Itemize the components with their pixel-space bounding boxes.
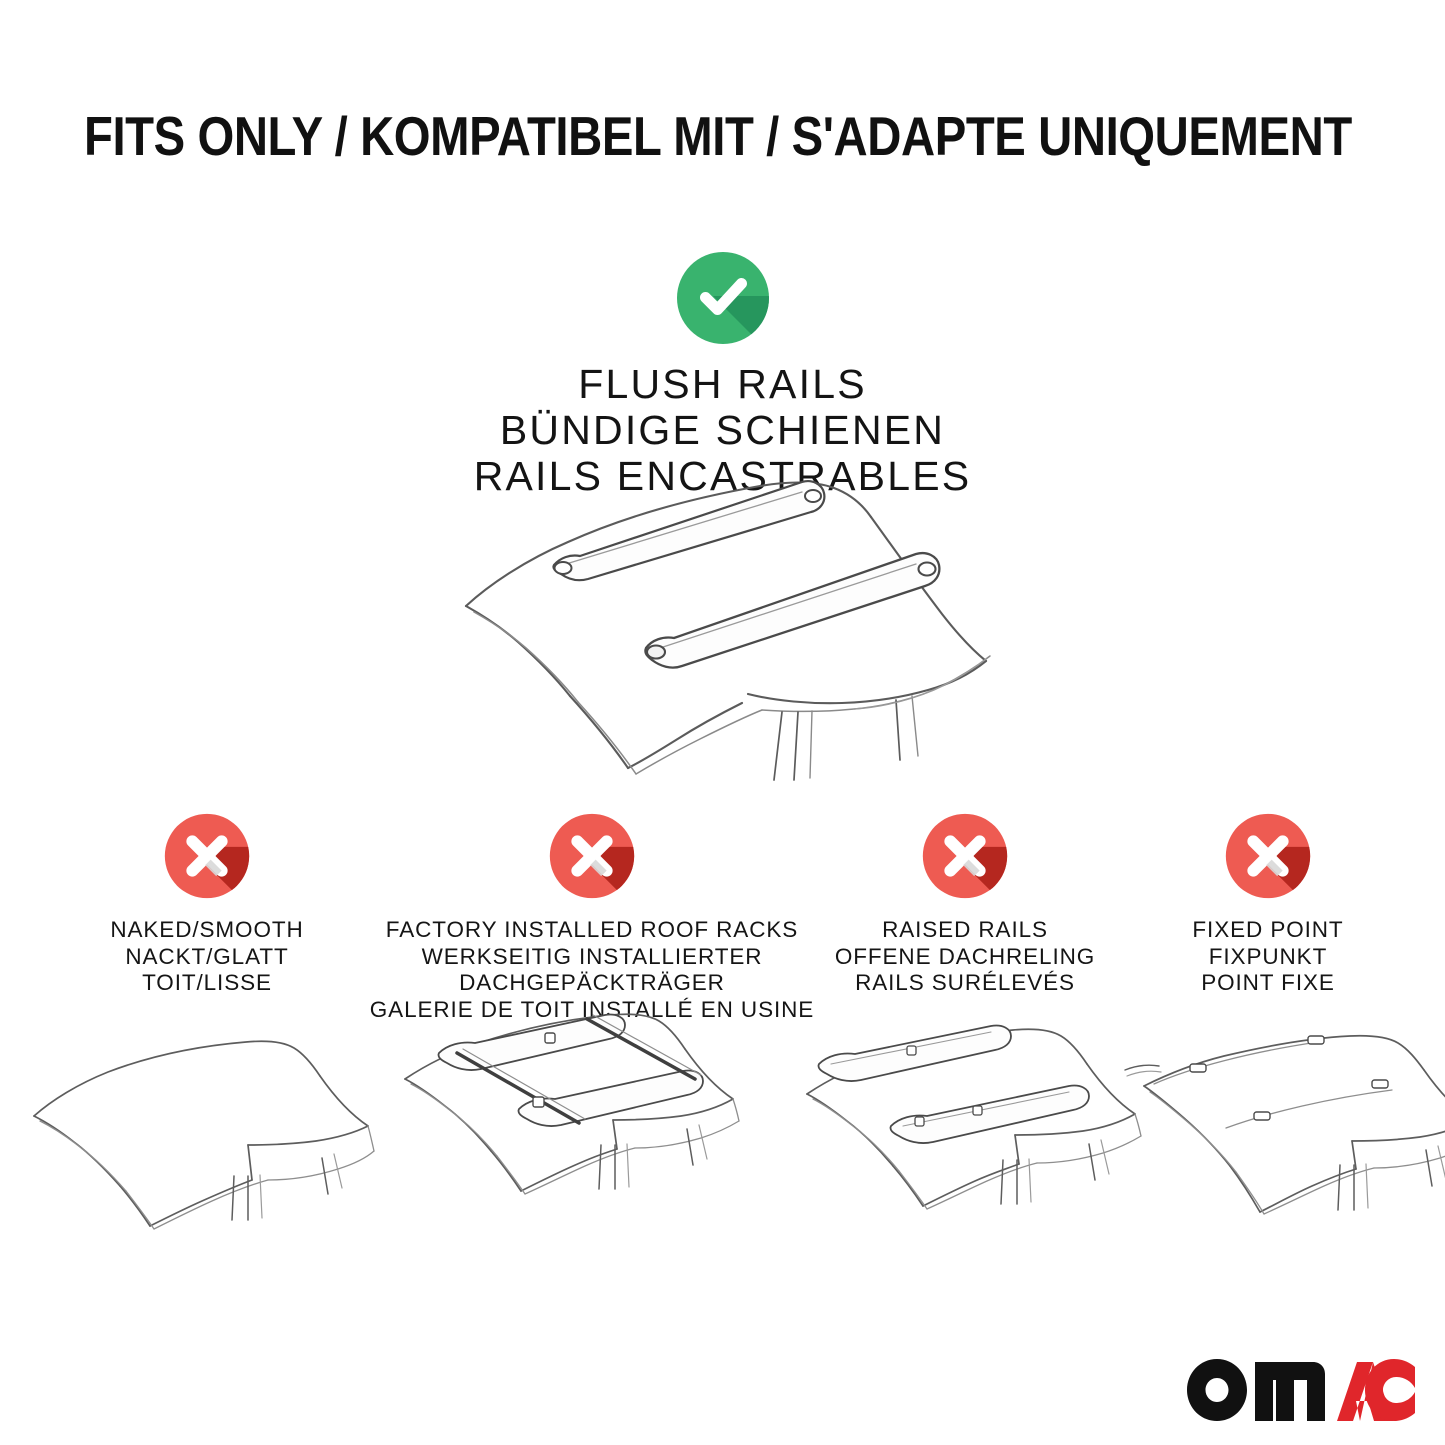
incompatible-label-fr: POINT FIXE bbox=[1128, 970, 1408, 997]
x-circle-icon bbox=[1224, 812, 1312, 900]
car-roof-with-flush-rails-illustration bbox=[430, 460, 1030, 790]
compatible-label-en: FLUSH RAILS bbox=[0, 361, 1445, 407]
incompatible-label-de: NACKT/GLATT bbox=[52, 944, 362, 971]
incompatible-label-de: OFFENE DACHRELING bbox=[820, 944, 1110, 971]
x-circle-icon bbox=[921, 812, 1009, 900]
car-roof-fixed-point-illustration bbox=[1130, 1028, 1445, 1243]
page-title: FITS ONLY / KOMPATIBEL MIT / S'ADAPTE UN… bbox=[84, 108, 1193, 164]
omac-logo-letter-o bbox=[1187, 1359, 1247, 1421]
incompatible-item-raised-rails: RAISED RAILS OFFENE DACHRELING RAILS SUR… bbox=[820, 812, 1110, 997]
omac-logo-letter-m bbox=[1255, 1362, 1325, 1421]
car-roof-raised-rails-illustration bbox=[795, 1018, 1165, 1233]
incompatible-labels: RAISED RAILS OFFENE DACHRELING RAILS SUR… bbox=[820, 917, 1110, 997]
car-roof-naked-illustration bbox=[20, 1028, 390, 1243]
incompatible-item-factory-installed-roof-racks: FACTORY INSTALLED ROOF RACKS WERKSEITIG … bbox=[368, 812, 816, 1023]
incompatible-label-fr: RAILS SURÉLEVÉS bbox=[820, 970, 1110, 997]
incompatible-label-de-2: DACHGEPÄCKTRÄGER bbox=[368, 970, 816, 997]
incompatible-item-fixed-point: FIXED POINT FIXPUNKT POINT FIXE bbox=[1128, 812, 1408, 997]
incompatible-label-de-1: WERKSEITIG INSTALLIERTER bbox=[368, 944, 816, 971]
incompatible-labels: NAKED/SMOOTH NACKT/GLATT TOIT/LISSE bbox=[52, 917, 362, 997]
car-roof-factory-rack-illustration bbox=[395, 1005, 765, 1220]
incompatible-label-fr: TOIT/LISSE bbox=[52, 970, 362, 997]
incompatible-label-en: FIXED POINT bbox=[1128, 917, 1408, 944]
incompatible-labels: FIXED POINT FIXPUNKT POINT FIXE bbox=[1128, 917, 1408, 997]
incompatible-label-de: FIXPUNKT bbox=[1128, 944, 1408, 971]
x-circle-icon bbox=[548, 812, 636, 900]
compatible-label-de: BÜNDIGE SCHIENEN bbox=[0, 407, 1445, 453]
incompatible-label-en: RAISED RAILS bbox=[820, 917, 1110, 944]
check-circle-icon bbox=[675, 250, 771, 346]
incompatible-label-en: NAKED/SMOOTH bbox=[52, 917, 362, 944]
x-circle-icon bbox=[163, 812, 251, 900]
incompatible-label-en: FACTORY INSTALLED ROOF RACKS bbox=[368, 917, 816, 944]
incompatible-item-naked-smooth: NAKED/SMOOTH NACKT/GLATT TOIT/LISSE bbox=[52, 812, 362, 997]
omac-logo bbox=[1177, 1349, 1417, 1427]
